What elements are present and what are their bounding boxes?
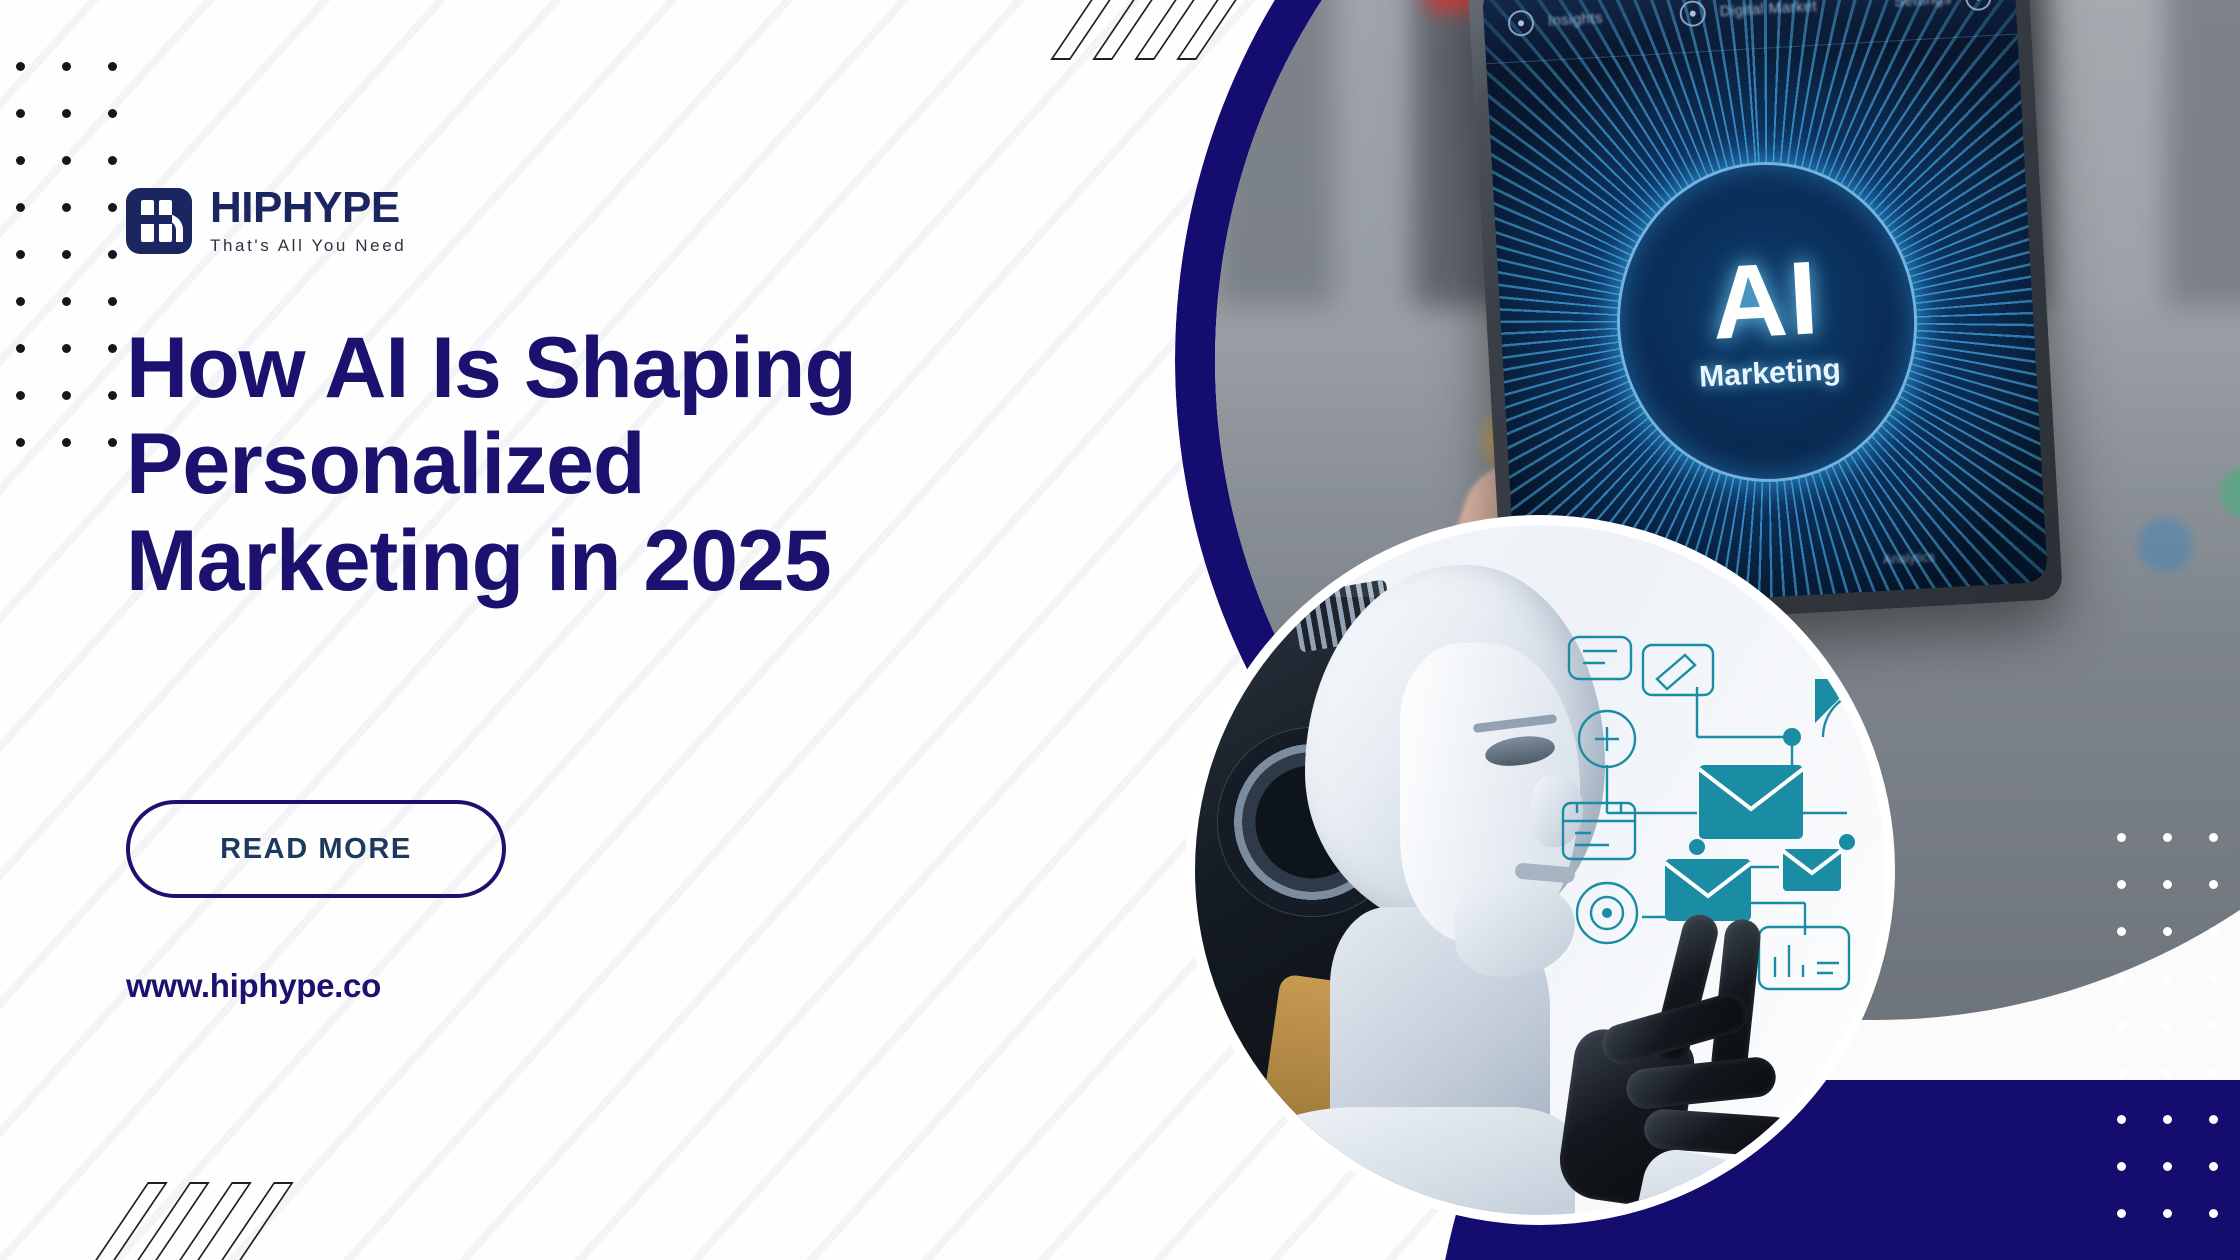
website-url[interactable]: www.hiphype.co xyxy=(126,967,381,1005)
dot xyxy=(108,297,117,306)
dot xyxy=(108,109,117,118)
dot xyxy=(16,250,25,259)
dot xyxy=(108,391,117,400)
dot xyxy=(2209,833,2218,842)
dot xyxy=(2163,974,2172,983)
dot xyxy=(16,391,25,400)
dot xyxy=(108,250,117,259)
dot xyxy=(62,62,71,71)
dot xyxy=(2117,1209,2126,1218)
dot xyxy=(2117,880,2126,889)
dot xyxy=(62,250,71,259)
dot xyxy=(2117,974,2126,983)
tablet-screen: Insights Digital Market Settings AI Mark… xyxy=(1482,0,2048,611)
dot xyxy=(2163,1068,2172,1077)
dot xyxy=(2163,1162,2172,1171)
dot xyxy=(108,156,117,165)
dot xyxy=(108,438,117,447)
dot xyxy=(2163,833,2172,842)
dot xyxy=(2117,833,2126,842)
dot xyxy=(16,344,25,353)
dot-grid-light xyxy=(2117,833,2218,1218)
dot xyxy=(62,391,71,400)
content-column: HIPHYPE That's All You Need How AI Is Sh… xyxy=(126,0,1156,1260)
brand-words: HIPHYPE That's All You Need xyxy=(210,186,406,256)
brand-lockup[interactable]: HIPHYPE That's All You Need xyxy=(126,186,406,256)
dot xyxy=(108,344,117,353)
dot xyxy=(16,109,25,118)
dot xyxy=(16,156,25,165)
robot-shoulder xyxy=(1215,1107,1575,1215)
dot xyxy=(62,344,71,353)
dot xyxy=(2209,974,2218,983)
monogram-crossbar xyxy=(141,215,172,224)
dot xyxy=(62,203,71,212)
dot xyxy=(62,438,71,447)
dot xyxy=(2117,1068,2126,1077)
dot xyxy=(2209,1021,2218,1030)
headline-line-1: How AI Is Shaping xyxy=(126,320,1086,416)
dot xyxy=(62,109,71,118)
read-more-button[interactable]: READ MORE xyxy=(126,800,506,898)
dot xyxy=(16,297,25,306)
dot xyxy=(2163,1115,2172,1124)
dot xyxy=(16,203,25,212)
dot xyxy=(2209,880,2218,889)
dot xyxy=(2117,1115,2126,1124)
dot xyxy=(2209,1162,2218,1171)
dot xyxy=(2117,1162,2126,1171)
dot xyxy=(62,156,71,165)
page-title: How AI Is Shaping Personalized Marketing… xyxy=(126,320,1086,609)
dot xyxy=(2117,927,2126,936)
brand-tagline: That's All You Need xyxy=(210,236,406,256)
dot xyxy=(2209,1068,2218,1077)
dot xyxy=(2209,927,2218,936)
dot xyxy=(16,438,25,447)
dot xyxy=(2209,1209,2218,1218)
ai-robot-marketing-automation-photo xyxy=(1195,525,1885,1215)
robot-hand xyxy=(1540,913,1860,1215)
brand-name: HIPHYPE xyxy=(210,186,406,230)
headline-line-2: Personalized xyxy=(126,416,1086,512)
badge-tick-ring xyxy=(1620,165,1914,478)
dot xyxy=(2117,1021,2126,1030)
dot xyxy=(2163,1209,2172,1218)
dot xyxy=(2163,1021,2172,1030)
dot xyxy=(2163,880,2172,889)
botbar-right-label: Analytics xyxy=(1883,548,1936,566)
banner-canvas: Insights Digital Market Settings AI Mark… xyxy=(0,0,2240,1260)
headline-line-3: Marketing in 2025 xyxy=(126,513,1086,609)
dot xyxy=(108,203,117,212)
dot xyxy=(2209,1115,2218,1124)
dot xyxy=(2163,927,2172,936)
dot xyxy=(62,297,71,306)
dot xyxy=(16,62,25,71)
hiphype-h-monogram-icon xyxy=(126,188,192,254)
dot xyxy=(108,62,117,71)
dot-grid-dark xyxy=(16,62,117,447)
